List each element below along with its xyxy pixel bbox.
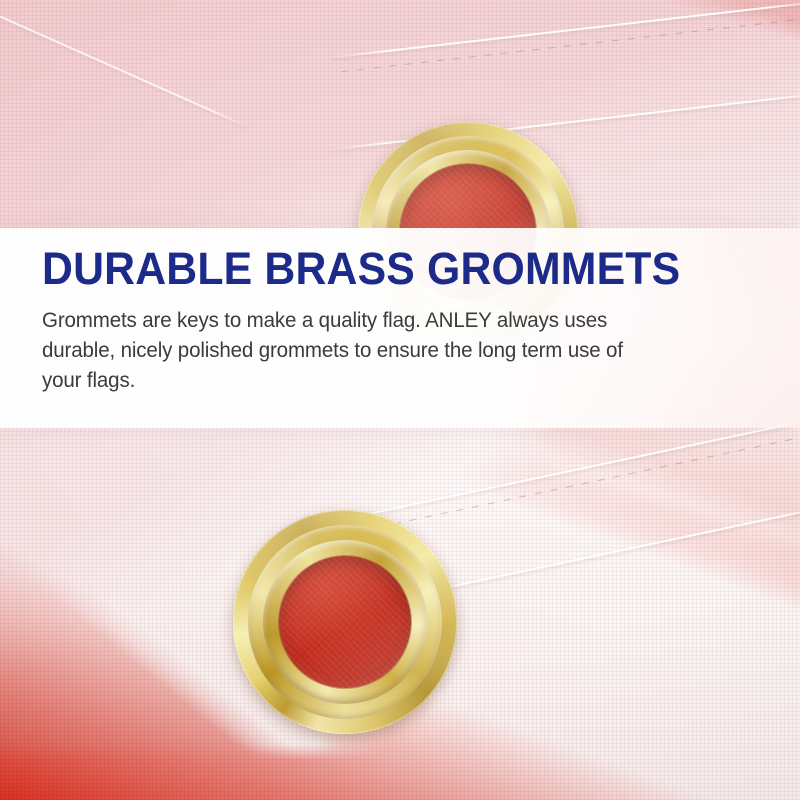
page-title: DURABLE BRASS GROMMETS	[42, 246, 680, 291]
product-photo-canvas: DURABLE BRASS GROMMETS Grommets are keys…	[0, 0, 800, 800]
description-text: Grommets are keys to make a quality flag…	[42, 305, 663, 395]
text-overlay-band: DURABLE BRASS GROMMETS Grommets are keys…	[0, 228, 800, 428]
